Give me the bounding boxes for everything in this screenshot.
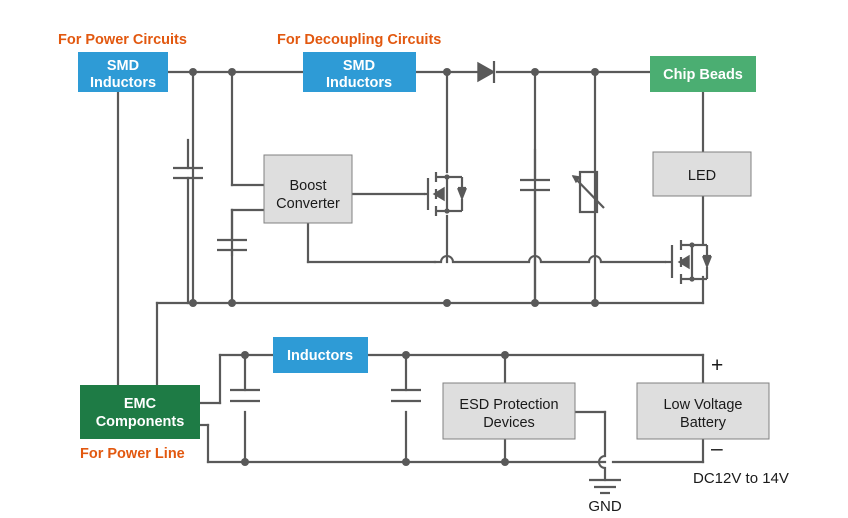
inductors-label: Inductors — [287, 348, 353, 364]
esd-protection-label-line2: Devices — [483, 415, 535, 431]
boost-converter-label-line1: Boost — [289, 178, 326, 194]
smd-inductors-mid-label-line1: SMD — [343, 58, 375, 74]
emc-components-label-line1: EMC — [124, 396, 157, 412]
wire-hop-group — [435, 256, 665, 262]
top-rail-wires — [118, 72, 703, 385]
battery-plus-label: + — [711, 354, 723, 377]
annotation-power-circuits: For Power Circuits — [58, 32, 187, 48]
block-boost-converter[interactable]: Boost Converter — [264, 155, 352, 223]
capacitor-symbol-3 — [520, 150, 550, 303]
battery-minus-label: – — [711, 437, 723, 460]
battery-voltage-label: DC12V to 14V — [693, 470, 789, 487]
capacitor-symbol-4 — [230, 390, 260, 401]
chip-beads-label: Chip Beads — [663, 67, 743, 83]
varistor-symbol — [573, 172, 604, 212]
block-esd-protection[interactable]: ESD Protection Devices — [443, 383, 575, 439]
esd-protection-label-line1: ESD Protection — [459, 397, 558, 413]
block-smd-inductors-mid[interactable]: SMD Inductors — [303, 52, 416, 92]
low-voltage-battery-label-line1: Low Voltage — [663, 397, 742, 413]
smd-inductors-left-label-line1: SMD — [107, 58, 139, 74]
circuit-diagram-svg: Boost Converter LED ESD Protection Devic… — [0, 0, 848, 518]
circuit-diagram-canvas: Boost Converter LED ESD Protection Devic… — [0, 0, 848, 518]
mosfet-symbol-top — [424, 172, 466, 262]
ground-symbol — [589, 480, 621, 493]
block-chip-beads[interactable]: Chip Beads — [650, 56, 756, 92]
boost-converter-label-line2: Converter — [276, 196, 340, 212]
block-low-voltage-battery[interactable]: Low Voltage Battery — [637, 383, 769, 439]
low-voltage-battery-label-line2: Battery — [680, 415, 727, 431]
emc-components-label-line2: Components — [96, 414, 185, 430]
diode-symbol — [478, 61, 494, 83]
block-inductors[interactable]: Inductors — [273, 337, 368, 373]
capacitor-symbol-2 — [217, 210, 247, 303]
block-emc-components[interactable]: EMC Components — [80, 385, 200, 439]
capacitor-symbol-1 — [173, 140, 203, 303]
capacitor-symbol-5 — [391, 390, 421, 401]
block-smd-inductors-left[interactable]: SMD Inductors — [78, 52, 168, 92]
smd-inductors-left-label-line2: Inductors — [90, 75, 156, 91]
annotation-decoupling-circuits: For Decoupling Circuits — [277, 32, 441, 48]
smd-inductors-mid-label-line2: Inductors — [326, 75, 392, 91]
gnd-label: GND — [588, 498, 622, 515]
led-label: LED — [688, 168, 716, 184]
annotation-power-line: For Power Line — [80, 446, 185, 462]
block-led[interactable]: LED — [653, 152, 751, 196]
